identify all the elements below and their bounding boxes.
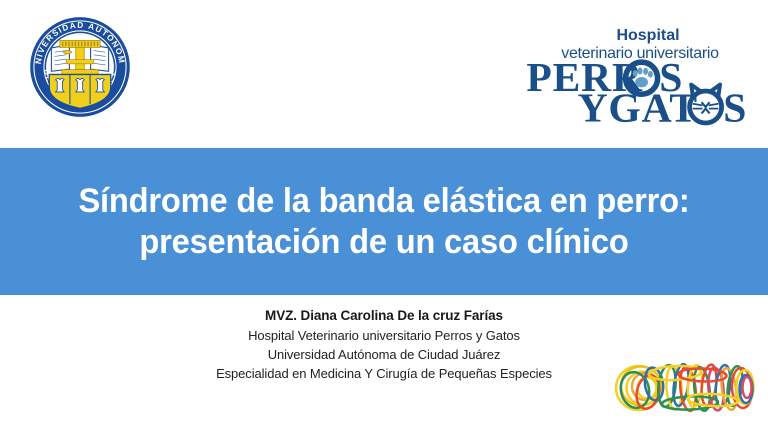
hospital-veterinario-logo: Hospital veterinario universitario PERR bbox=[520, 22, 760, 128]
logo-hospital-text: Hospital bbox=[616, 27, 679, 44]
uacj-seal-logo: UNIVERSIDAD AUTONOMA DE CIUDAD JUAREZ bbox=[27, 14, 133, 120]
page-title: Síndrome de la banda elástica en perro: … bbox=[37, 181, 730, 262]
author-name: MVZ. Diana Carolina De la cruz Farías bbox=[0, 306, 768, 326]
svg-text:S: S bbox=[723, 84, 746, 128]
title-band: Síndrome de la banda elástica en perro: … bbox=[0, 148, 768, 295]
rubber-bands-photo bbox=[600, 340, 768, 422]
presentation-slide: UNIVERSIDAD AUTONOMA DE CIUDAD JUAREZ bbox=[0, 0, 768, 430]
svg-text:YGAT: YGAT bbox=[578, 84, 698, 128]
slide-header: UNIVERSIDAD AUTONOMA DE CIUDAD JUAREZ bbox=[0, 0, 768, 148]
logo-y-gatos-text: YGAT S bbox=[578, 84, 747, 128]
